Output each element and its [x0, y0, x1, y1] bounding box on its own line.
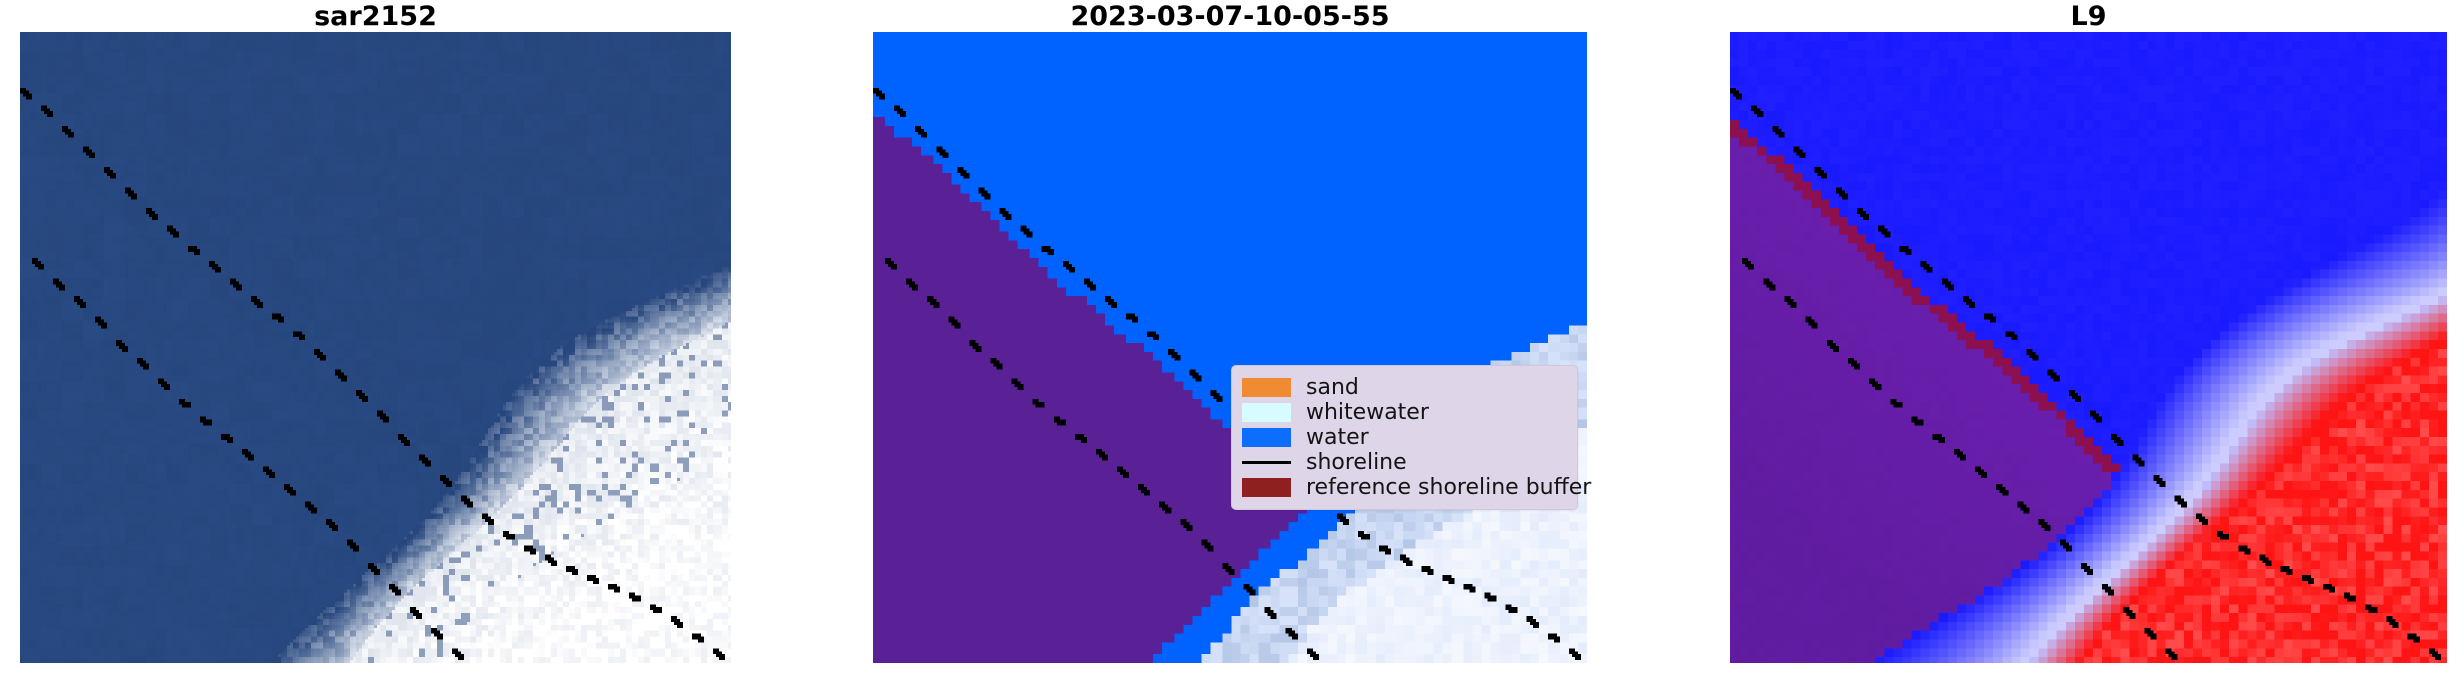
- legend-label-reference-shoreline-buffer: reference shoreline buffer: [1306, 475, 1591, 500]
- panel-title-datetime: 2023-03-07-10-05-55: [873, 2, 1587, 32]
- image-axes-sar[interactable]: [20, 32, 731, 663]
- image-axes-l9[interactable]: [1730, 32, 2447, 663]
- panel-l9: L9: [1730, 0, 2447, 677]
- legend-item-shoreline: shoreline: [1242, 450, 1565, 475]
- legend-swatch-shoreline: [1242, 453, 1291, 472]
- legend-item-sand: sand: [1242, 375, 1565, 400]
- legend-label-shoreline: shoreline: [1306, 450, 1407, 475]
- legend-item-whitewater: whitewater: [1242, 400, 1565, 425]
- legend-swatch-sand: [1242, 378, 1291, 397]
- image-axes-classification[interactable]: [873, 32, 1587, 663]
- legend-item-reference-shoreline-buffer: reference shoreline buffer: [1242, 475, 1565, 500]
- legend-item-water: water: [1242, 425, 1565, 450]
- panel-classification: 2023-03-07-10-05-55: [873, 0, 1587, 677]
- legend-label-water: water: [1306, 425, 1369, 450]
- panel-sar2152: sar2152: [20, 0, 731, 677]
- figure-canvas: sar2152 2023-03-07-10-05-55 L9 sand whit…: [0, 0, 2460, 677]
- panel-title-sar: sar2152: [20, 2, 731, 32]
- legend-swatch-water: [1242, 428, 1291, 447]
- legend-swatch-whitewater: [1242, 403, 1291, 422]
- legend-label-sand: sand: [1306, 375, 1359, 400]
- legend: sand whitewater water shoreline referenc…: [1231, 365, 1578, 510]
- panel-title-l9: L9: [1730, 2, 2447, 32]
- legend-label-whitewater: whitewater: [1306, 400, 1429, 425]
- legend-swatch-reference-shoreline-buffer: [1242, 478, 1291, 497]
